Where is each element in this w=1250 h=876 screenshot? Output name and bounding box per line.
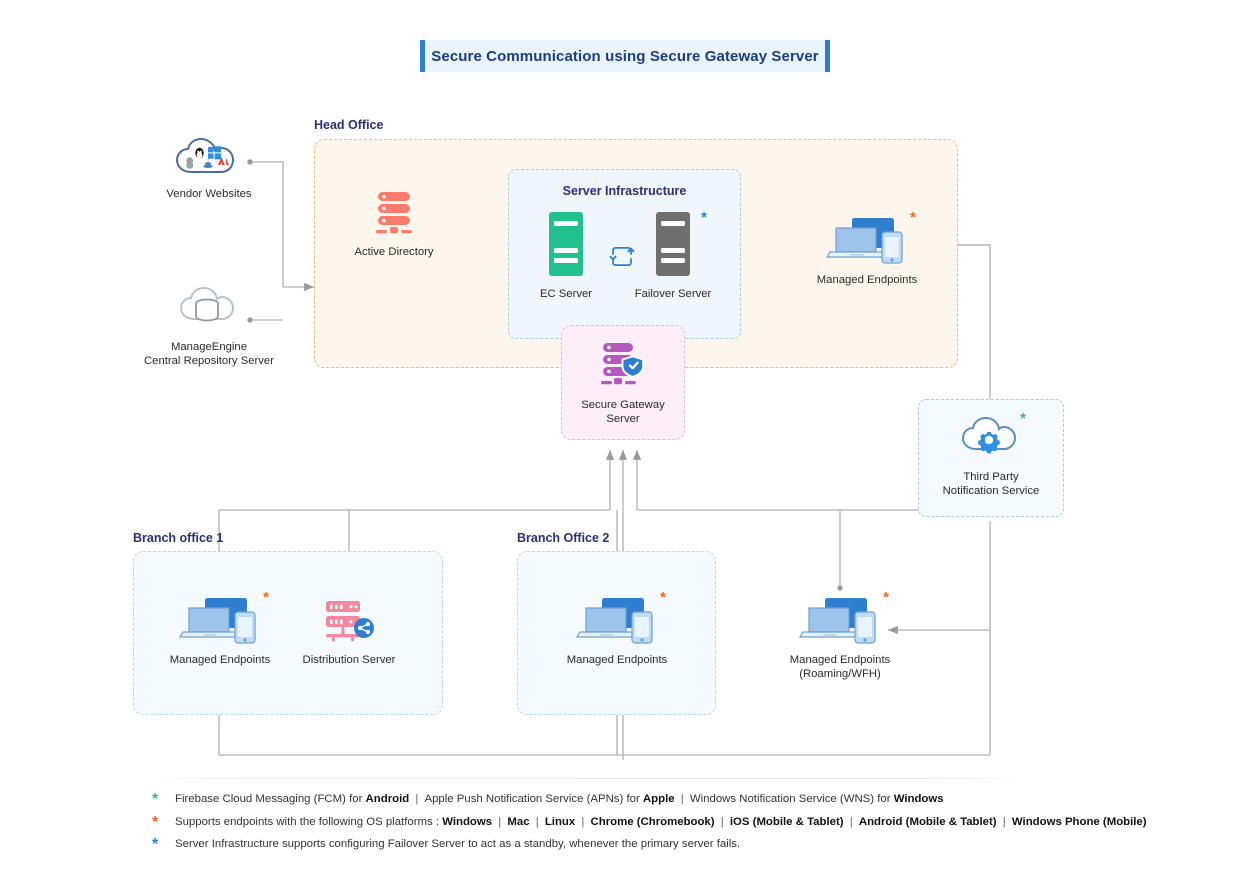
node-central-repository-server[interactable]: ManageEngine Central Repository Server <box>144 285 274 369</box>
diagram-canvas: Secure Communication using Secure Gatewa… <box>0 0 1250 876</box>
cloud-gear-icon: * <box>960 415 1022 466</box>
node-label-central-repository-server: ManageEngine Central Repository Server <box>144 341 274 369</box>
zone-label-branch-office-2: Branch Office 2 <box>517 531 609 545</box>
managed-endpoints-devices-icon: * <box>574 596 660 649</box>
managed-endpoints-devices-icon: * <box>177 596 263 649</box>
orange-asterisk-marker: * <box>883 590 889 605</box>
legend-text: Server Infrastructure supports configuri… <box>175 838 740 850</box>
node-managed-endpoints-branch2[interactable]: * Managed Endpoints <box>557 596 677 668</box>
ec-server-tower-icon <box>546 210 586 283</box>
node-managed-endpoints-branch1[interactable]: * Managed Endpoints <box>160 596 280 668</box>
managed-endpoints-devices-icon: * <box>824 216 910 269</box>
legend-asterisk-marker: * <box>152 816 166 829</box>
node-third-party-notification-service[interactable]: * Third Party Notification Service <box>925 415 1057 499</box>
node-managed-endpoints-head-office[interactable]: * Managed Endpoints <box>807 216 927 288</box>
node-managed-endpoints-roaming[interactable]: * Managed Endpoints (Roaming/WFH) <box>780 596 900 682</box>
orange-asterisk-marker: * <box>910 210 916 225</box>
secure-gateway-shield-rack-icon <box>597 341 649 394</box>
distribution-server-share-icon <box>322 598 376 649</box>
active-directory-rack-icon <box>372 190 416 241</box>
legend-row: *Server Infrastructure supports configur… <box>152 838 740 851</box>
node-ec-server[interactable]: EC Server <box>526 210 606 302</box>
node-secure-gateway-server[interactable]: Secure Gateway Server <box>563 341 683 427</box>
failover-server-tower-icon: * <box>653 210 693 283</box>
vendor-cloud-icon <box>174 136 244 183</box>
legend-row: *Firebase Cloud Messaging (FCM) for Andr… <box>152 793 944 806</box>
legend-text: Firebase Cloud Messaging (FCM) for Andro… <box>175 793 944 805</box>
node-label-distribution-server: Distribution Server <box>299 654 399 668</box>
node-vendor-websites[interactable]: Vendor Websites <box>159 136 259 202</box>
legend-asterisk-marker: * <box>152 793 166 806</box>
node-distribution-server[interactable]: Distribution Server <box>299 598 399 668</box>
legend-divider <box>145 778 1027 779</box>
orange-asterisk-marker: * <box>263 590 269 605</box>
sync-icon <box>608 243 636 274</box>
node-label-managed-endpoints-head-office: Managed Endpoints <box>807 274 927 288</box>
node-label-secure-gateway-server: Secure Gateway Server <box>563 399 683 427</box>
legend-asterisk-marker: * <box>152 838 166 851</box>
repository-cloud-database-icon <box>178 285 240 336</box>
node-active-directory[interactable]: Active Directory <box>344 190 444 260</box>
managed-endpoints-devices-icon: * <box>797 596 883 649</box>
legend-text: Supports endpoints with the following OS… <box>175 816 1147 828</box>
orange-asterisk-marker: * <box>660 590 666 605</box>
node-label-failover-server: Failover Server <box>633 288 713 302</box>
node-failover-server[interactable]: * Failover Server <box>633 210 713 302</box>
node-label-ec-server: EC Server <box>526 288 606 302</box>
node-label-managed-endpoints-branch1: Managed Endpoints <box>160 654 280 668</box>
legend-row: *Supports endpoints with the following O… <box>152 816 1147 829</box>
node-label-active-directory: Active Directory <box>344 246 444 260</box>
node-label-vendor-websites: Vendor Websites <box>159 188 259 202</box>
node-label-managed-endpoints-branch2: Managed Endpoints <box>557 654 677 668</box>
green-asterisk-marker: * <box>1020 411 1026 426</box>
zone-label-server-infrastructure: Server Infrastructure <box>509 184 740 198</box>
zone-label-branch-office-1: Branch office 1 <box>133 531 223 545</box>
zone-label-head-office: Head Office <box>314 118 383 132</box>
blue-asterisk-marker: * <box>701 210 707 225</box>
node-label-managed-endpoints-roaming: Managed Endpoints (Roaming/WFH) <box>780 654 900 682</box>
node-label-third-party-notification-service: Third Party Notification Service <box>925 471 1057 499</box>
